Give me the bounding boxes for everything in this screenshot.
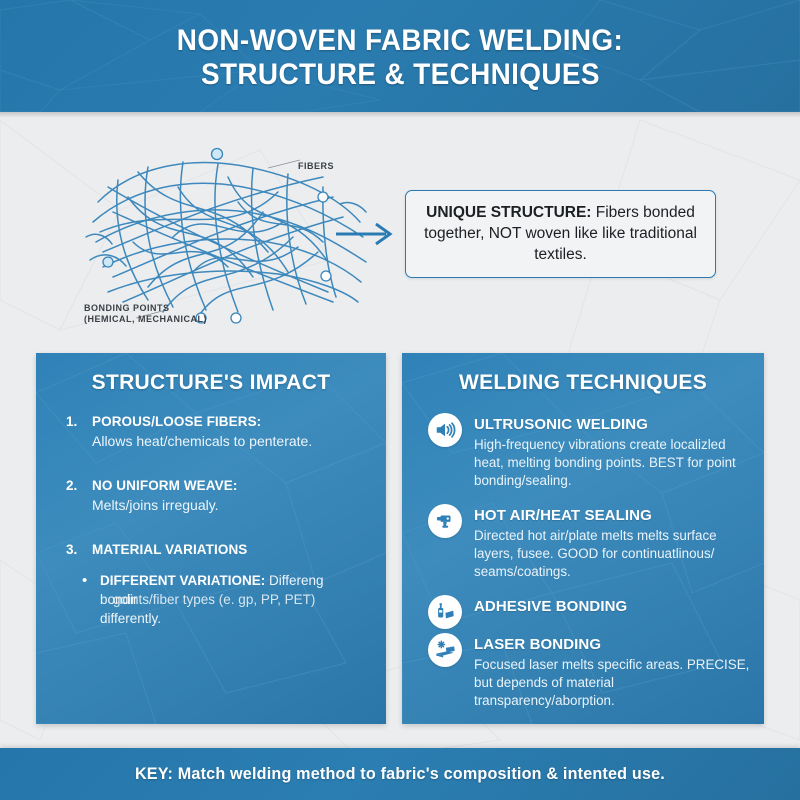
structure-impact-panel: STRUCTURE'S IMPACT 1. POROUS/LOOSE FIBER… <box>36 353 386 724</box>
technique-laser-desc: Focused laser melts specific areas. PREC… <box>474 656 750 710</box>
impact-item-1: 1. POROUS/LOOSE FIBERS: Allows heat/chem… <box>66 413 370 451</box>
technique-adhesive: ADHESIVE BONDING <box>428 595 750 629</box>
impact-item-2-number: 2. <box>66 477 92 515</box>
speaker-sound-icon <box>428 413 462 447</box>
technique-hot-air-desc: Directed hot air/plate melts melts surfa… <box>474 527 750 581</box>
technique-ultrasonic-desc: High-frequency vibrations create localiz… <box>474 436 750 490</box>
impact-item-3-head: MATERIAL VARIATIONS <box>92 541 370 559</box>
callout-text: UNIQUE STRUCTURE: Fibers bonded together… <box>420 202 701 265</box>
glue-bottle-icon <box>428 595 462 629</box>
unique-structure-callout: UNIQUE STRUCTURE: Fibers bonded together… <box>405 190 716 278</box>
subitem-line2: bondirgoints/fiber types (e. gp, PP, PET… <box>100 590 138 609</box>
bonding-points-label-line2: (HEMICAL, MECHANICAL) <box>84 314 207 325</box>
header-title-line1: NON-WOVEN FABRIC WELDING: <box>177 24 623 58</box>
right-panel-title: WELDING TECHNIQUES <box>416 371 750 395</box>
technique-laser-title: LASER BONDING <box>474 635 750 654</box>
impact-item-1-desc: Allows heat/chemicals to penterate. <box>92 432 370 451</box>
header-shadow <box>0 112 800 118</box>
callout-lead: UNIQUE STRUCTURE: <box>426 204 591 221</box>
subitem-lead: DIFFERENT VARIATIONE: <box>100 573 265 588</box>
subitem-line2-ghost: goints/fiber types (e. gp, PP, PET) <box>113 590 315 609</box>
left-panel-title: STRUCTURE'S IMPACT <box>52 371 370 395</box>
technique-hot-air-title: HOT AIR/HEAT SEALING <box>474 506 750 525</box>
impact-item-2: 2. NO UNIFORM WEAVE: Melts/joins irregua… <box>66 477 370 515</box>
technique-hot-air: HOT AIR/HEAT SEALING Directed hot air/pl… <box>428 504 750 581</box>
bonding-points-label-line1: BONDING POINTS <box>84 303 207 314</box>
footer-key-text: KEY: Match welding method to fabric's co… <box>135 764 665 784</box>
impact-subitem: • DIFFERENT VARIATIONE: Differeng bondir… <box>82 571 370 628</box>
technique-ultrasonic-title: ULTRUSONIC WELDING <box>474 415 750 434</box>
bonding-points-label: BONDING POINTS (HEMICAL, MECHANICAL) <box>84 303 207 325</box>
technique-adhesive-title: ADHESIVE BONDING <box>474 597 750 616</box>
subitem-rest: Differeng <box>265 573 323 588</box>
impact-item-3: 3. MATERIAL VARIATIONS <box>66 541 370 559</box>
impact-item-2-desc: Melts/joins irregualy. <box>92 496 370 515</box>
technique-ultrasonic: ULTRUSONIC WELDING High-frequency vibrat… <box>428 413 750 490</box>
subitem-bullet-icon: • <box>82 571 100 628</box>
header-banner: NON-WOVEN FABRIC WELDING: STRUCTURE & TE… <box>0 0 800 112</box>
welding-techniques-panel: WELDING TECHNIQUES ULTRUSONIC WELDING Hi… <box>402 353 764 724</box>
header-title-line2: STRUCTURE & TECHNIQUES <box>201 58 600 92</box>
subitem-line1: DIFFERENT VARIATIONE: Differeng <box>100 571 370 590</box>
impact-item-3-number: 3. <box>66 541 92 559</box>
heat-gun-icon <box>428 504 462 538</box>
infographic-canvas: NON-WOVEN FABRIC WELDING: STRUCTURE & TE… <box>0 0 800 800</box>
impact-item-2-head: NO UNIFORM WEAVE: <box>92 477 370 495</box>
technique-laser: LASER BONDING Focused laser melts specif… <box>428 633 750 710</box>
fibers-label: FIBERS <box>298 161 334 172</box>
impact-item-1-number: 1. <box>66 413 92 451</box>
subitem-line3: differently. <box>100 609 370 628</box>
arrow-right-icon <box>336 222 398 246</box>
footer-banner: KEY: Match welding method to fabric's co… <box>0 748 800 800</box>
impact-item-1-head: POROUS/LOOSE FIBERS: <box>92 413 370 431</box>
laser-sheet-icon <box>428 633 462 667</box>
